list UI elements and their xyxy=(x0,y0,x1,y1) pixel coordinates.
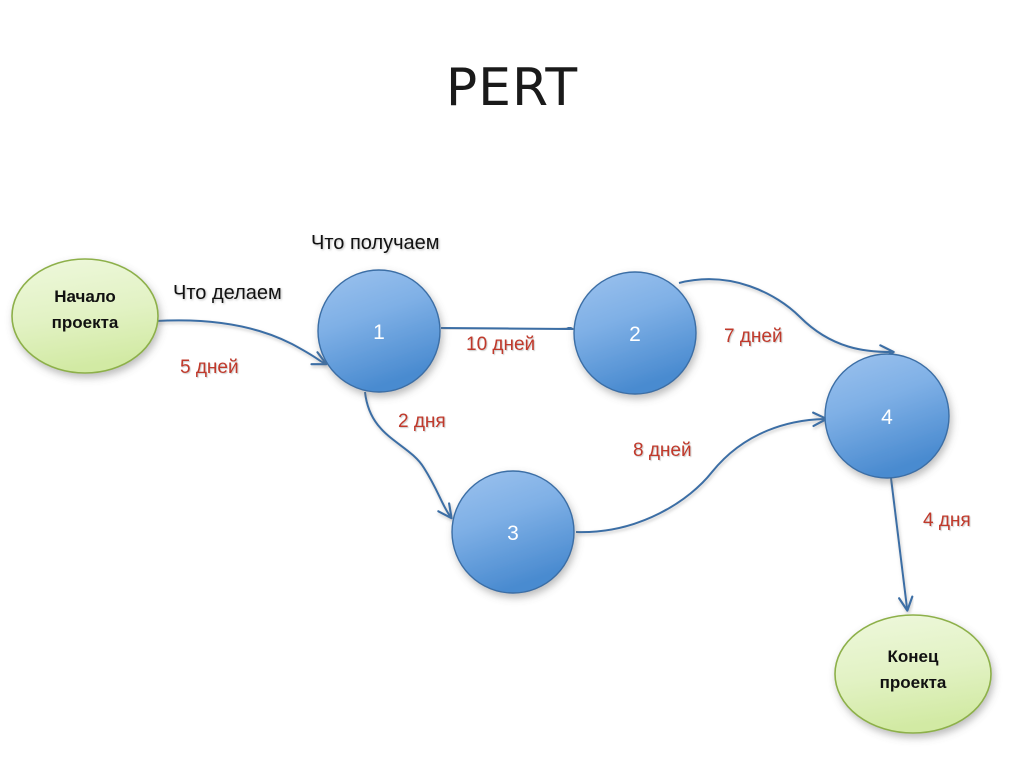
annotation-what-we-do: Что делаем xyxy=(173,282,282,305)
edge-label-2-to-4: 7 дней xyxy=(724,326,783,348)
node-1-label: 1 xyxy=(373,321,385,344)
node-end-label-line2: проекта xyxy=(880,673,947,692)
edge-label-1-to-2: 10 дней xyxy=(466,334,535,356)
edge-label-4-to-end: 4 дня xyxy=(923,510,971,532)
node-2[interactable]: 2 xyxy=(574,272,696,394)
edge-label-start-to-1: 5 дней xyxy=(180,357,239,379)
edge-label-3-to-4: 8 дней xyxy=(633,440,692,462)
slide-canvas: PERT xyxy=(0,0,1024,767)
node-3-label: 3 xyxy=(507,522,519,545)
pert-diagram: Начало проекта 1 2 3 4 Конец xyxy=(0,0,1024,767)
node-3[interactable]: 3 xyxy=(452,471,574,593)
node-4-label: 4 xyxy=(881,406,893,429)
edge-4-to-end xyxy=(891,478,907,608)
edge-3-to-4 xyxy=(576,419,824,532)
node-start[interactable]: Начало проекта xyxy=(12,259,158,373)
node-start-label-line2: проекта xyxy=(52,313,119,332)
nodes-layer: Начало проекта 1 2 3 4 Конец xyxy=(12,259,991,733)
node-4[interactable]: 4 xyxy=(825,354,949,478)
edge-1-to-2 xyxy=(441,328,570,329)
edge-label-1-to-3: 2 дня xyxy=(398,411,446,433)
node-end-label-line1: Конец xyxy=(888,647,939,666)
node-2-label: 2 xyxy=(629,323,641,346)
node-1[interactable]: 1 xyxy=(318,270,440,392)
node-end[interactable]: Конец проекта xyxy=(835,615,991,733)
edge-2-to-4 xyxy=(679,279,891,352)
node-start-label-line1: Начало xyxy=(54,287,116,306)
annotation-what-we-get: Что получаем xyxy=(311,232,440,255)
